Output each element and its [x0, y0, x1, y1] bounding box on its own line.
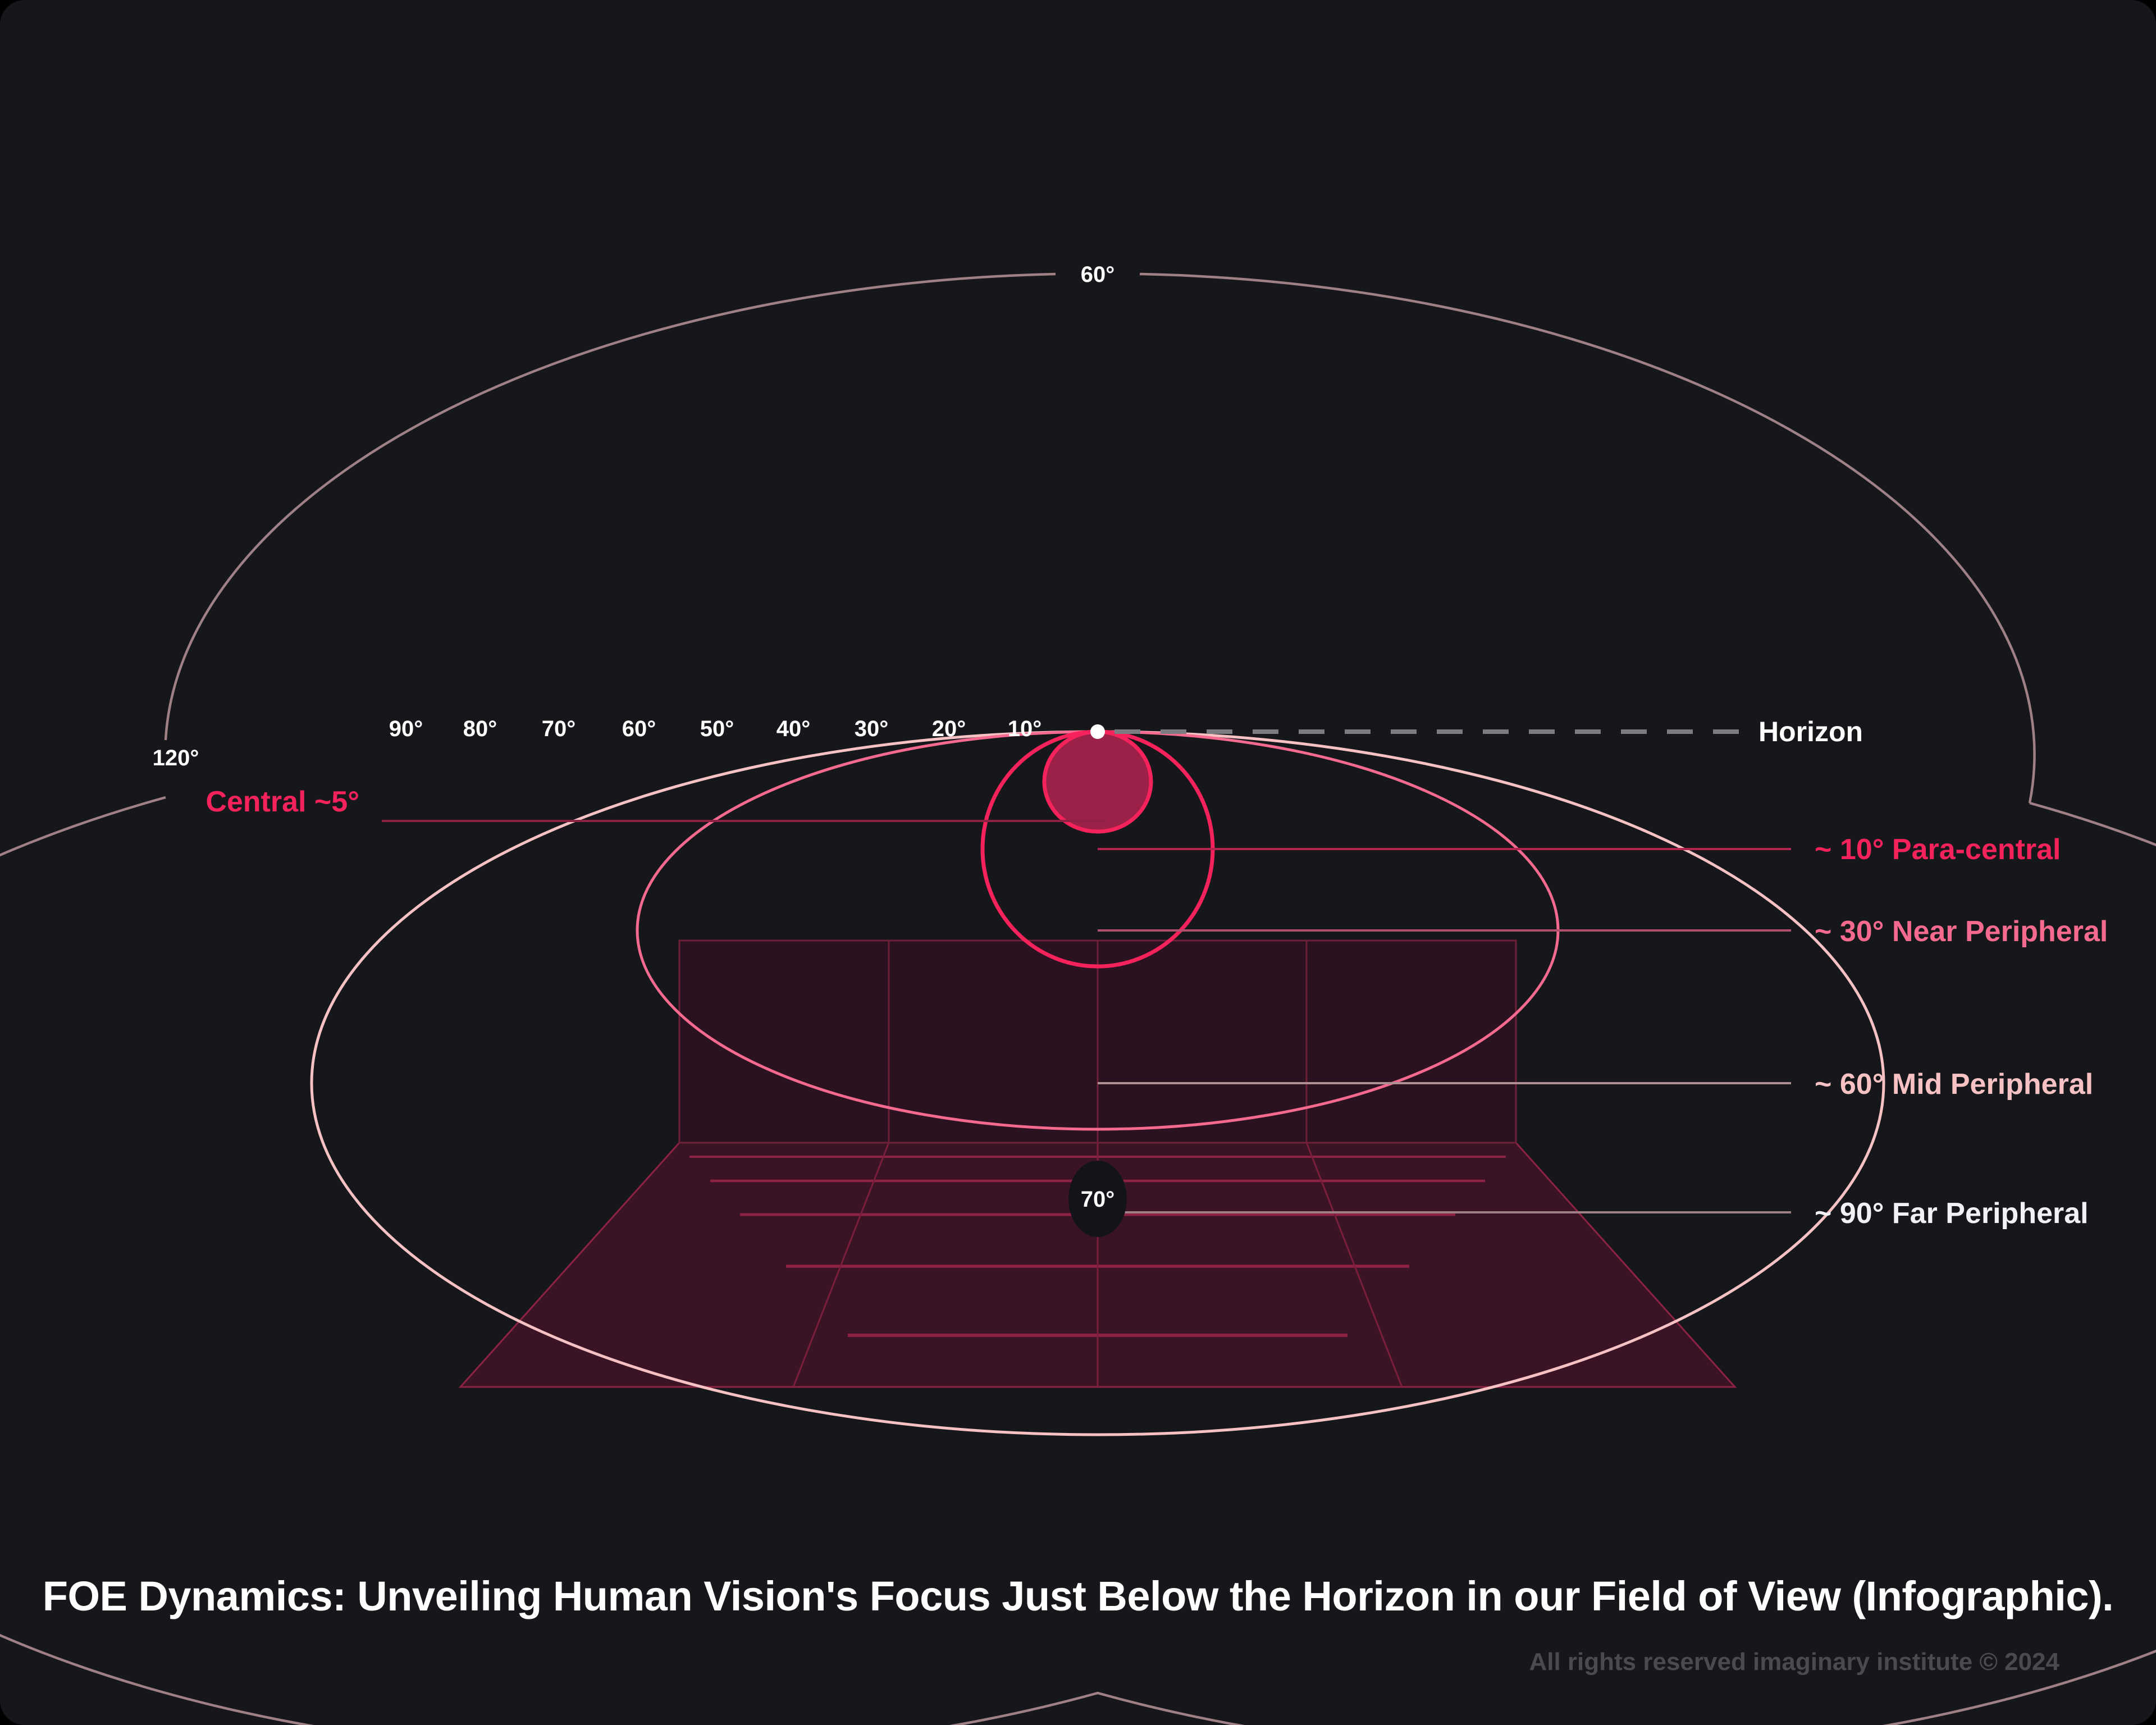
- horizon-label: Horizon: [1758, 716, 1863, 747]
- zone-label-mid-peripheral: ~ 60° Mid Peripheral: [1815, 1068, 2093, 1101]
- tick-label-20: 20°: [932, 717, 966, 741]
- ring-arc: [1140, 274, 2035, 803]
- axis-tick-labels: 120° 90° 80° 70° 60° 50° 40° 30° 20° 10°: [153, 717, 1042, 770]
- tick-label-10: 10°: [1008, 717, 1042, 741]
- focus-of-expansion-dot: [1090, 724, 1105, 739]
- curve-badge-60: 60°: [1081, 262, 1115, 287]
- field-of-view-diagram: 120° 90° 80° 70° 60° 50° 40° 30° 20° 10°…: [0, 0, 2156, 1725]
- zone-label-para-central: ~ 10° Para-central: [1815, 833, 2061, 866]
- tick-label-50: 50°: [700, 717, 734, 741]
- tick-label-120: 120°: [153, 746, 199, 770]
- tick-label-70: 70°: [542, 717, 576, 741]
- wall-panel: [679, 941, 1516, 1143]
- zone-label-far-peripheral: ~ 90° Far Peripheral: [1815, 1197, 2089, 1230]
- tick-label-40: 40°: [776, 717, 811, 741]
- curve-badge-70: 70°: [1081, 1187, 1115, 1212]
- tick-label-80: 80°: [463, 717, 497, 741]
- central-blob: [1044, 732, 1151, 832]
- infographic-root: 120° 90° 80° 70° 60° 50° 40° 30° 20° 10°…: [0, 0, 2156, 1725]
- zone-central-fill: [1044, 732, 1151, 832]
- tick-label-60: 60°: [622, 717, 656, 741]
- page-title: FOE Dynamics: Unveiling Human Vision's F…: [0, 1572, 2156, 1620]
- zone-label-central: Central ~5°: [205, 786, 359, 818]
- tick-label-30: 30°: [855, 717, 889, 741]
- zone-label-near-peripheral: ~ 30° Near Peripheral: [1815, 915, 2108, 948]
- tick-label-90: 90°: [389, 717, 423, 741]
- copyright-notice: All rights reserved imaginary institute …: [1529, 1648, 2059, 1676]
- ring-arc: [166, 274, 1056, 740]
